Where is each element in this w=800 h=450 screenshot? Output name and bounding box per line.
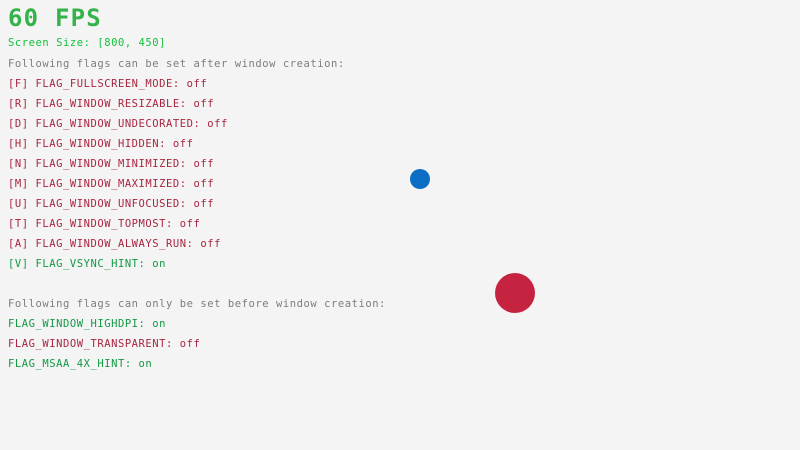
red-circle-shape (495, 273, 535, 313)
flag-row-fullscreen-mode[interactable]: [F] FLAG_FULLSCREEN_MODE: off (8, 79, 207, 90)
flag-row-window-undecorated[interactable]: [D] FLAG_WINDOW_UNDECORATED: off (8, 119, 228, 130)
flag-row-window-always-run[interactable]: [A] FLAG_WINDOW_ALWAYS_RUN: off (8, 239, 221, 250)
flag-row-window-resizable[interactable]: [R] FLAG_WINDOW_RESIZABLE: off (8, 99, 214, 110)
flag-row-window-transparent: FLAG_WINDOW_TRANSPARENT: off (8, 339, 200, 350)
flag-row-window-topmost[interactable]: [T] FLAG_WINDOW_TOPMOST: off (8, 219, 200, 230)
flag-row-window-maximized[interactable]: [M] FLAG_WINDOW_MAXIMIZED: off (8, 179, 214, 190)
before-creation-note: Following flags can only be set before w… (8, 299, 386, 310)
flag-row-window-minimized[interactable]: [N] FLAG_WINDOW_MINIMIZED: off (8, 159, 214, 170)
blue-circle-shape (410, 169, 430, 189)
raylib-window-flags-canvas[interactable]: 60 FPS Screen Size: [800, 450] Following… (0, 0, 800, 450)
flag-row-window-hidden[interactable]: [H] FLAG_WINDOW_HIDDEN: off (8, 139, 194, 150)
fps-counter: 60 FPS (8, 6, 102, 30)
flag-row-window-highdpi: FLAG_WINDOW_HIGHDPI: on (8, 319, 166, 330)
flag-row-window-unfocused[interactable]: [U] FLAG_WINDOW_UNFOCUSED: off (8, 199, 214, 210)
after-creation-note: Following flags can be set after window … (8, 59, 345, 70)
flag-row-msaa-4x-hint: FLAG_MSAA_4X_HINT: on (8, 359, 152, 370)
screen-size-label: Screen Size: [800, 450] (8, 38, 166, 49)
flag-row-vsync-hint[interactable]: [V] FLAG_VSYNC_HINT: on (8, 259, 166, 270)
